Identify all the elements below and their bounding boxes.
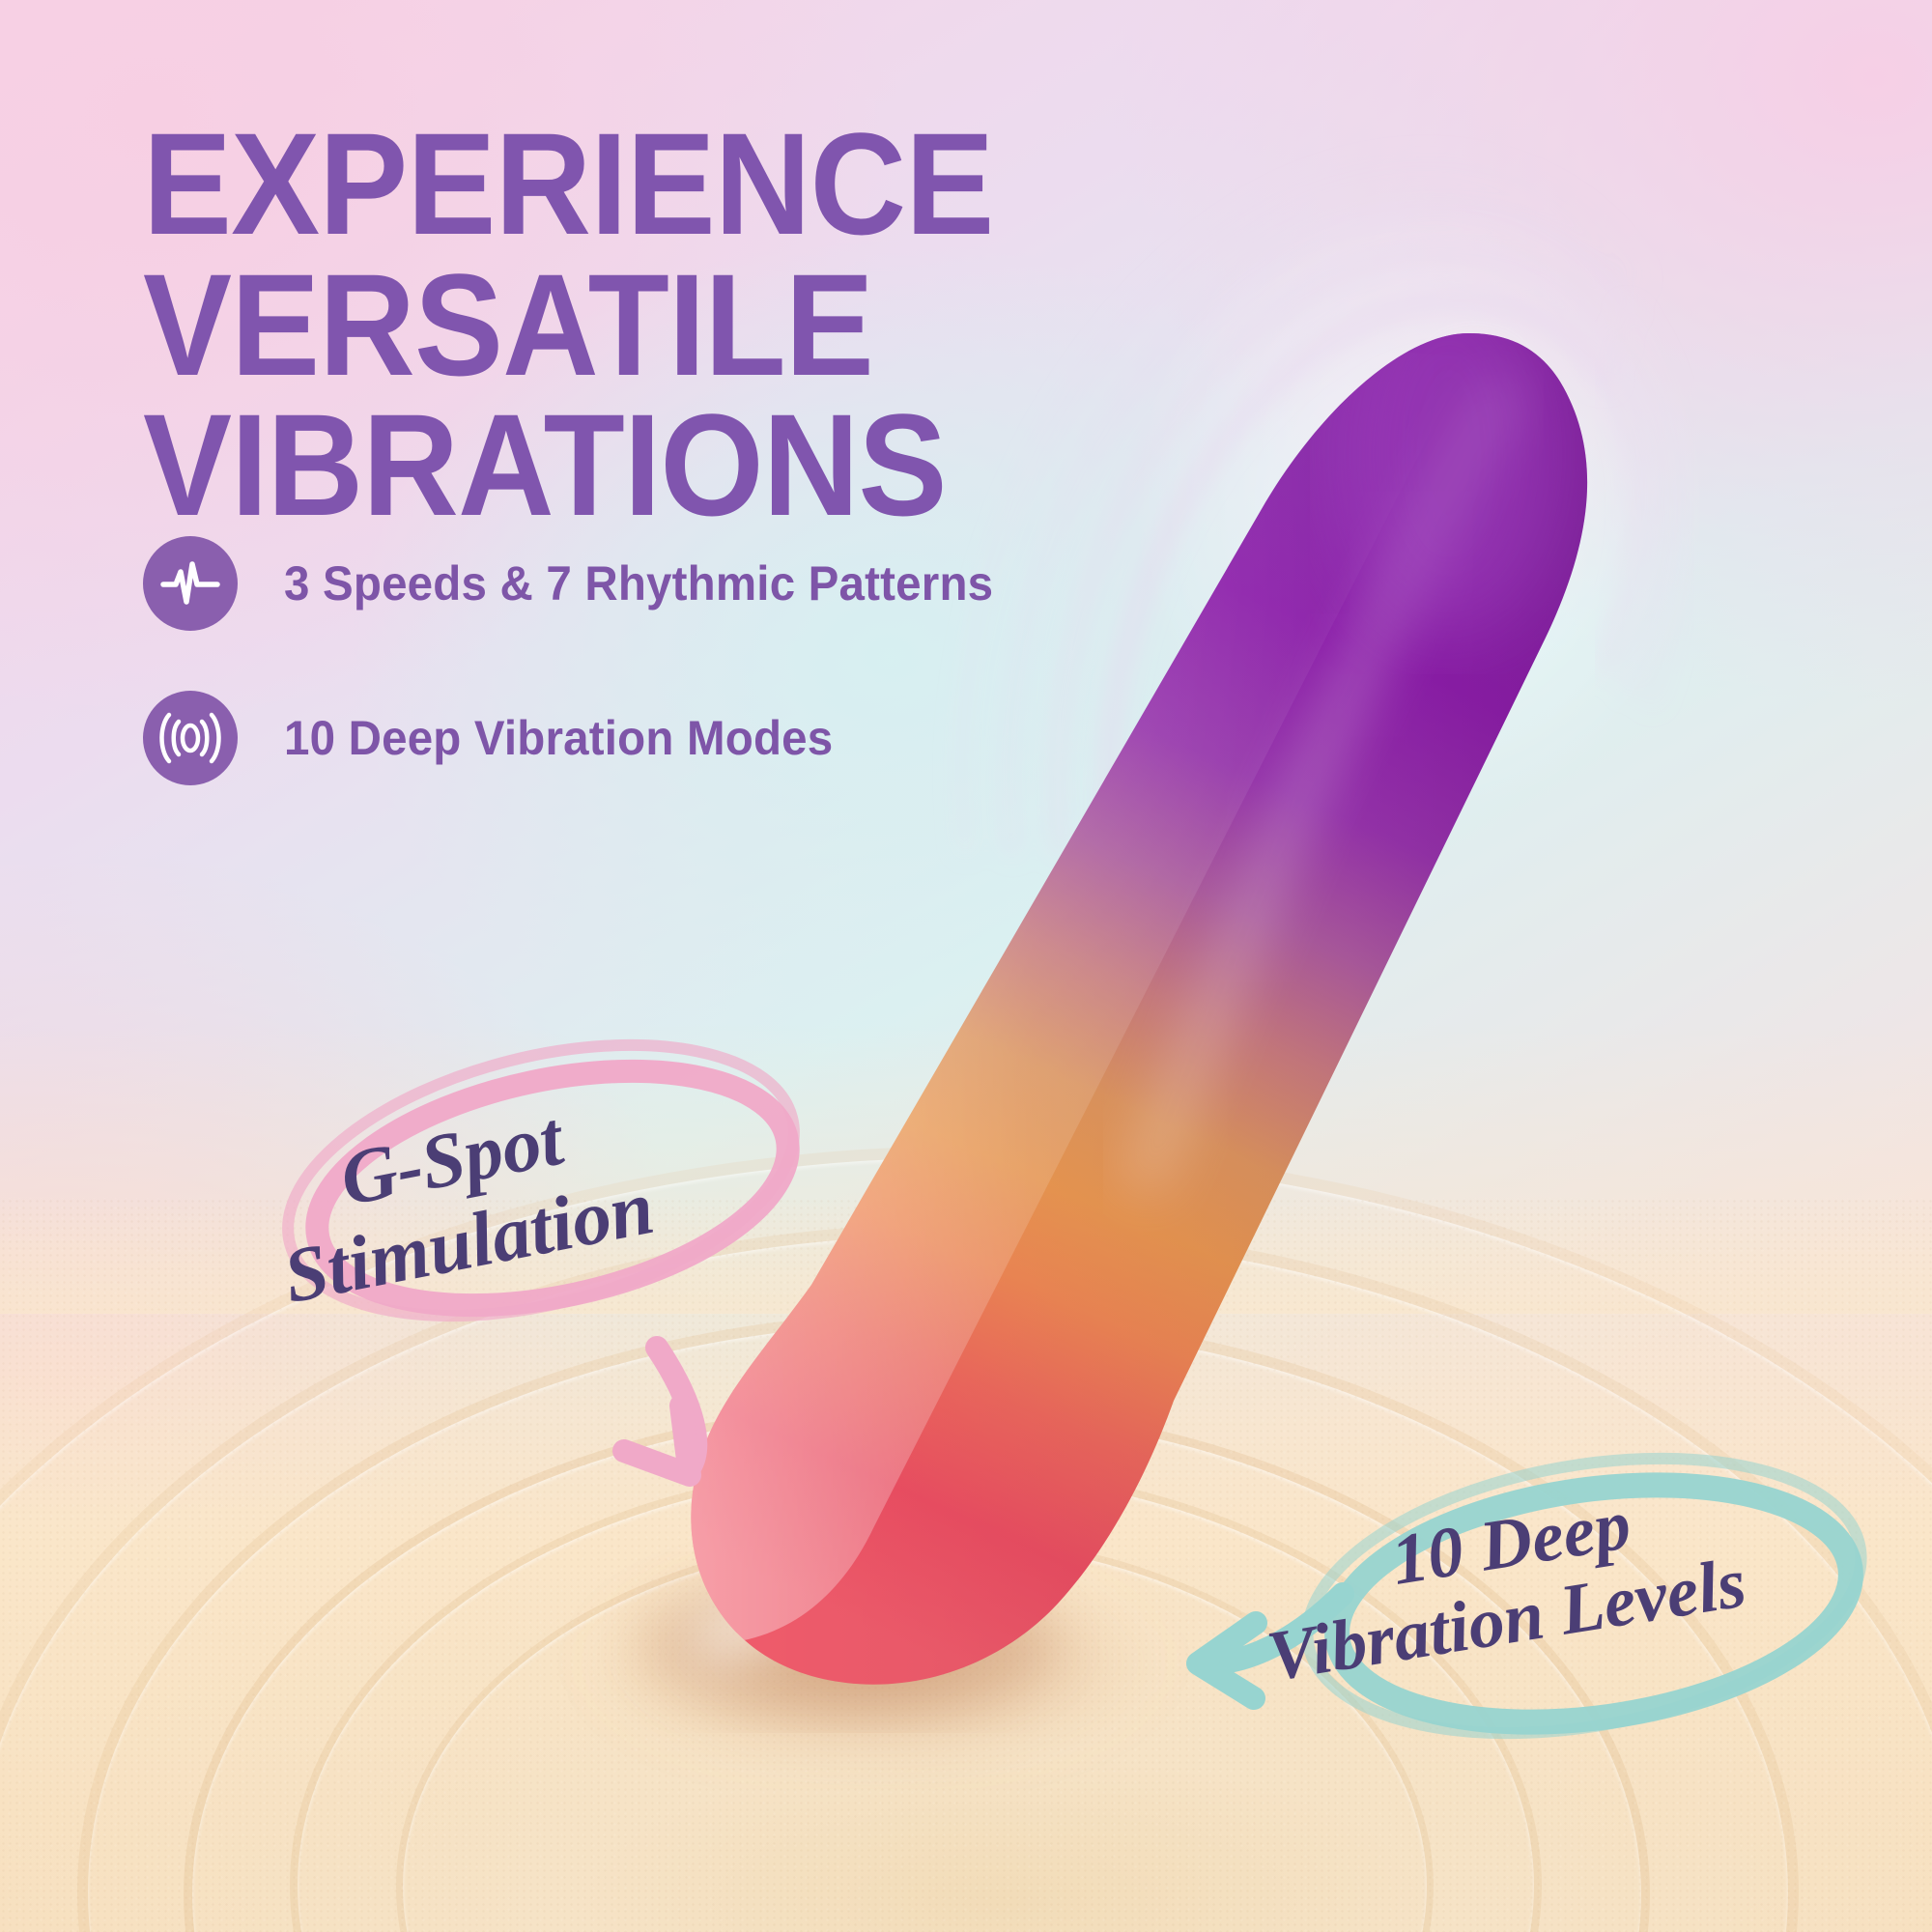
feature-item-speeds: 3 Speeds & 7 Rhythmic Patterns [143,536,1109,631]
vibration-waves-glyph [158,709,222,767]
headline-line-2: VIBRATIONS [143,395,1459,536]
feature-label-speeds: 3 Speeds & 7 Rhythmic Patterns [284,555,993,611]
feature-list: 3 Speeds & 7 Rhythmic Patterns 10 Deep V… [143,536,1109,845]
pulse-wave-glyph [160,558,220,609]
promo-banner: EXPERIENCE VERSATILE VIBRATIONS 3 Speeds… [0,0,1932,1932]
headline-line-1: EXPERIENCE VERSATILE [143,114,1459,395]
feature-label-modes: 10 Deep Vibration Modes [284,710,833,766]
vibration-waves-icon [143,691,238,785]
page-title: EXPERIENCE VERSATILE VIBRATIONS [143,114,1459,536]
vibration-ripple-rings-right [1604,311,1686,701]
pulse-wave-icon [143,536,238,631]
feature-item-modes: 10 Deep Vibration Modes [143,691,1109,785]
